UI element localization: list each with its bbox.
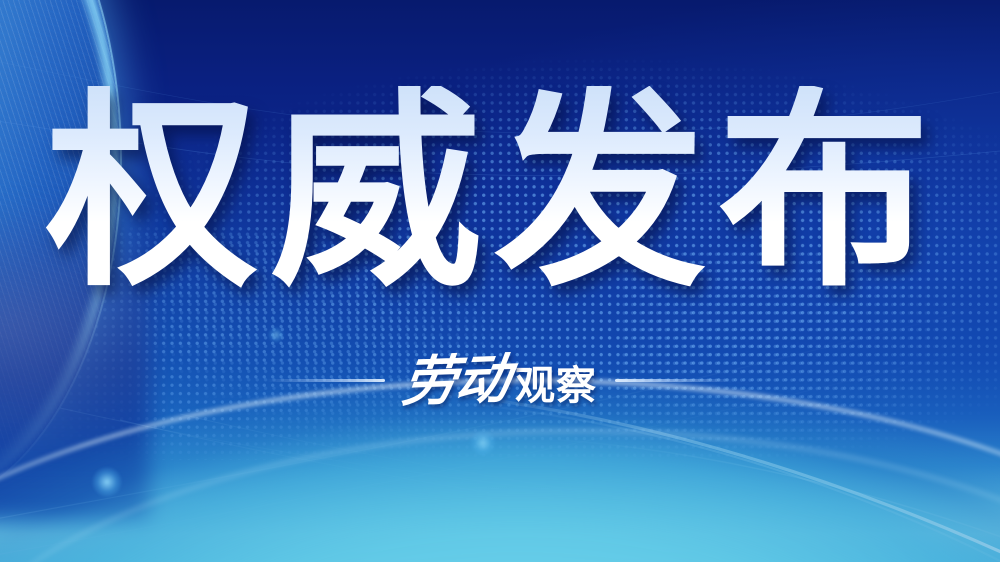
headline-container: 权威发布 <box>0 86 1000 298</box>
divider-rule-left <box>267 379 385 382</box>
divider-rule-right <box>615 379 733 382</box>
spark-dot <box>470 430 496 456</box>
brand-regular-text: 观察 <box>515 366 597 406</box>
brand-lockup: 劳动 观察 <box>0 345 1000 415</box>
spark-dot <box>92 467 122 497</box>
page-title: 权威发布 <box>46 86 954 298</box>
brand-cursive-text: 劳动 <box>399 351 512 409</box>
authority-release-banner: 权威发布 劳动 观察 <box>0 0 1000 562</box>
brand-name: 劳动 观察 <box>403 353 597 407</box>
spark-dot <box>268 327 284 343</box>
